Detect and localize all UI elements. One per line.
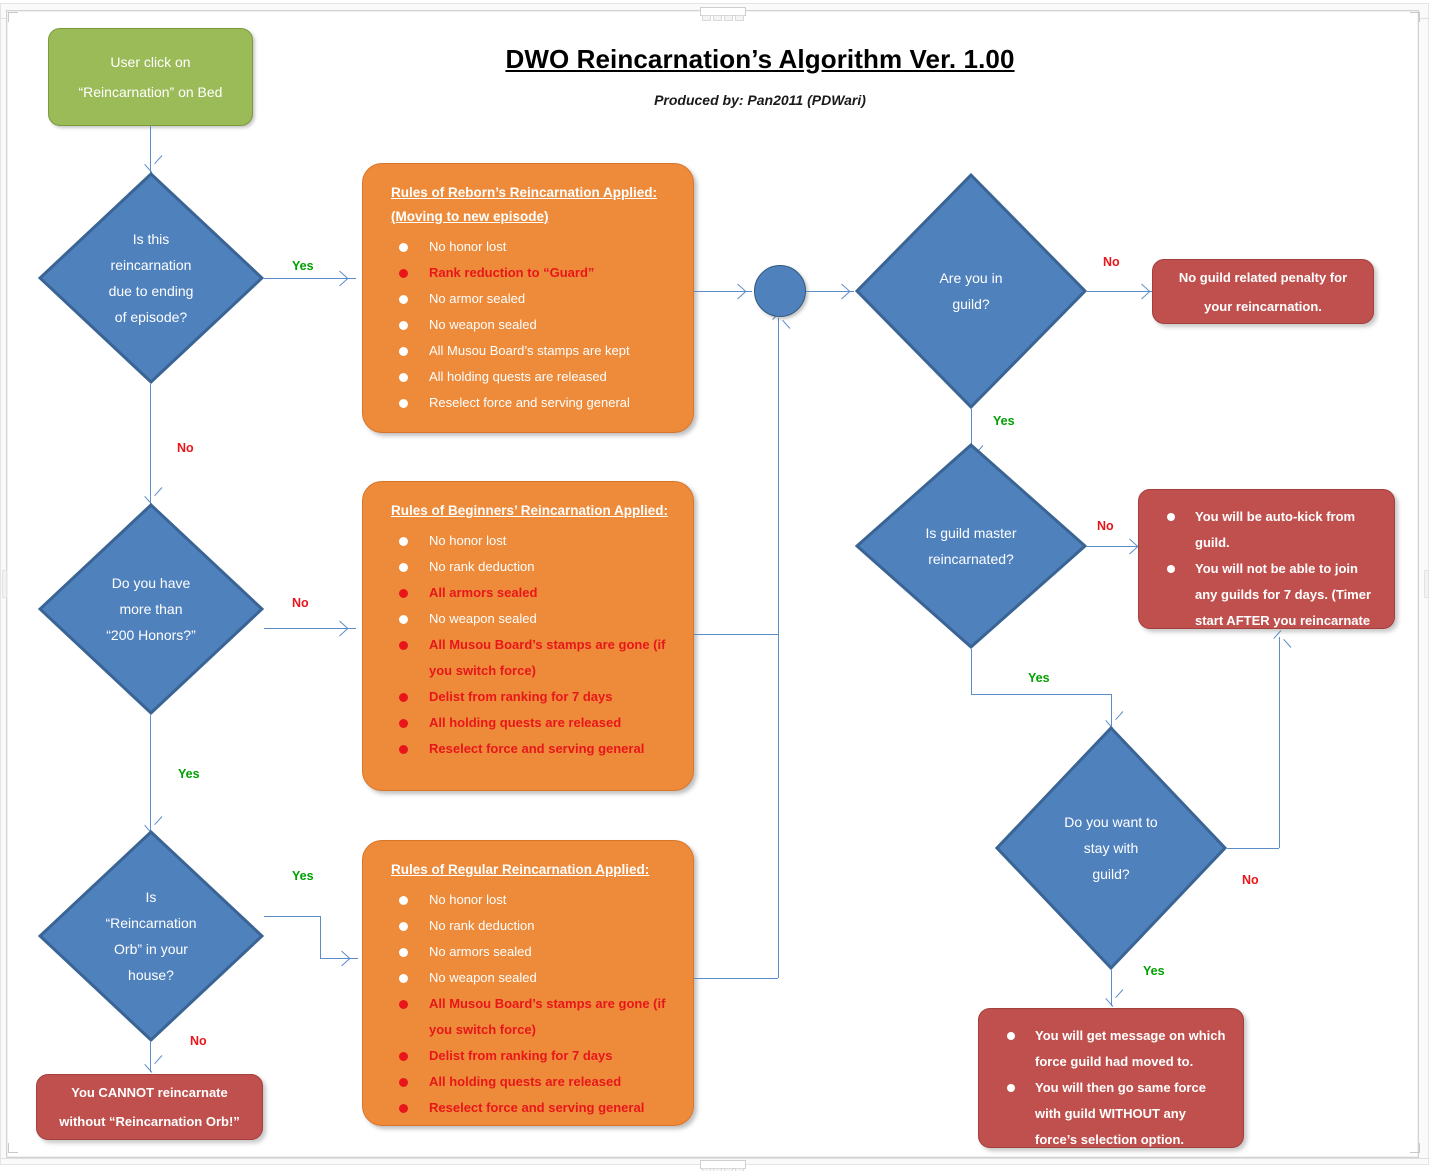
label-stay-yes: Yes xyxy=(1143,964,1165,978)
rule-item: Delist from ranking for 7 days xyxy=(377,684,679,710)
bullet-icon xyxy=(399,347,408,356)
connector-honors-yes xyxy=(150,715,151,833)
bullet-icon xyxy=(399,922,408,931)
outcome-cannot-reincarnate-line2: without “Reincarnation Orb!” xyxy=(59,1107,240,1136)
rule-item: No weapon sealed xyxy=(377,965,679,991)
label-guild-master-yes: Yes xyxy=(1028,671,1050,685)
corner-mark-top-right xyxy=(1410,12,1420,22)
flowchart-page: DWO Reincarnation’s Algorithm Ver. 1.00 … xyxy=(0,0,1429,1171)
connector-guild-master-no xyxy=(1087,546,1142,547)
outcome-stay-with-guild: You will get message on which force guil… xyxy=(978,1008,1244,1148)
rule-item: No armor sealed xyxy=(377,286,679,312)
label-episode-no: No xyxy=(177,441,194,455)
decision-episode[interactable]: Is this reincarnation due to ending of e… xyxy=(38,172,264,384)
connector-beginners-to-merge-v xyxy=(778,318,779,634)
rule-item: All armors sealed xyxy=(377,580,679,606)
decision-stay-with-guild-text: Do you want to stay with guild? xyxy=(1027,809,1194,887)
rules-regular-box: Rules of Regular Reincarnation Applied: … xyxy=(362,840,694,1126)
decision-guild-master-text: Is guild master reincarnated? xyxy=(869,520,1073,572)
bullet-icon xyxy=(399,589,408,598)
connector-orb-yes-h1 xyxy=(264,916,320,917)
connector-orb-no xyxy=(150,1042,151,1072)
rule-item: Reselect force and serving general xyxy=(377,1095,679,1121)
connector-regular-to-merge-v xyxy=(778,634,779,978)
bullet-icon xyxy=(399,896,408,905)
rules-reborn-list: No honor lostRank reduction to “Guard”No… xyxy=(377,234,679,416)
decision-orb[interactable]: Is “Reincarnation Orb” in your house? xyxy=(38,830,264,1042)
bullet-icon xyxy=(1167,513,1175,521)
rule-item: Delist from ranking for 7 days xyxy=(377,1043,679,1069)
corner-mark-bottom-left xyxy=(8,1143,18,1153)
start-node-line2: “Reincarnation” on Bed xyxy=(79,77,223,107)
side-mark-right xyxy=(1424,570,1429,598)
bullet-icon xyxy=(1007,1084,1015,1092)
decision-episode-text: Is this reincarnation due to ending of e… xyxy=(70,226,233,330)
outcome-item: You will then go same force with guild W… xyxy=(987,1075,1229,1153)
label-guild-master-no: No xyxy=(1097,519,1114,533)
merge-connector-circle xyxy=(754,265,806,317)
outcome-item: You will not be able to join any guilds … xyxy=(1147,556,1380,660)
rule-item: Reselect force and serving general xyxy=(377,736,679,762)
connector-in-guild-no xyxy=(1087,291,1155,292)
bullet-icon xyxy=(399,321,408,330)
page-tab-top xyxy=(700,7,746,16)
label-in-guild-yes: Yes xyxy=(993,414,1015,428)
rules-beginners-box: Rules of Beginners’ Reincarnation Applie… xyxy=(362,481,694,791)
rule-item: Rank reduction to “Guard” xyxy=(377,260,679,286)
rule-item: No honor lost xyxy=(377,887,679,913)
rule-item: No weapon sealed xyxy=(377,312,679,338)
rules-regular-title: Rules of Regular Reincarnation Applied: xyxy=(391,857,679,883)
connector-episode-no xyxy=(150,384,151,504)
start-node-line1: User click on xyxy=(110,47,190,77)
label-in-guild-no: No xyxy=(1103,255,1120,269)
outcome-cannot-reincarnate-line1: You CANNOT reincarnate xyxy=(71,1078,228,1107)
connector-stay-no-v xyxy=(1279,637,1280,848)
outcome-no-guild-penalty: No guild related penalty for your reinca… xyxy=(1152,259,1374,324)
bullet-icon xyxy=(399,693,408,702)
decision-stay-with-guild[interactable]: Do you want to stay with guild? xyxy=(995,726,1227,970)
rule-item: No honor lost xyxy=(377,528,679,554)
connector-guild-master-yes-v2 xyxy=(1111,694,1112,728)
rule-item: All Musou Board’s stamps are kept xyxy=(377,338,679,364)
bullet-icon xyxy=(399,745,408,754)
bullet-icon xyxy=(399,974,408,983)
bullet-icon xyxy=(399,1078,408,1087)
rule-item: No weapon sealed xyxy=(377,606,679,632)
rule-item: All holding quests are released xyxy=(377,1069,679,1095)
bullet-icon xyxy=(399,563,408,572)
rule-item: No armors sealed xyxy=(377,939,679,965)
rules-beginners-title: Rules of Beginners’ Reincarnation Applie… xyxy=(391,498,679,524)
rules-beginners-list: No honor lostNo rank deductionAll armors… xyxy=(377,528,679,762)
connector-start-to-episode xyxy=(150,126,151,174)
bullet-icon xyxy=(399,399,408,408)
outcome-item: You will get message on which force guil… xyxy=(987,1023,1229,1075)
outcome-stay-with-guild-list: You will get message on which force guil… xyxy=(979,1009,1243,1165)
page-tab-bottom xyxy=(700,1160,746,1169)
outcome-no-guild-penalty-line2: your reincarnation. xyxy=(1204,292,1322,321)
rule-item: No honor lost xyxy=(377,234,679,260)
rules-reborn-title-line1: Rules of Reborn’s Reincarnation Applied: xyxy=(391,180,679,206)
connector-stay-yes xyxy=(1111,970,1112,1006)
rules-reborn-box: Rules of Reborn’s Reincarnation Applied:… xyxy=(362,163,694,433)
bullet-icon xyxy=(399,269,408,278)
label-orb-yes: Yes xyxy=(292,869,314,883)
label-honors-yes: Yes xyxy=(178,767,200,781)
corner-mark-bottom-right xyxy=(1410,1143,1420,1153)
outcome-item: You will be auto-kick from guild. xyxy=(1147,504,1380,556)
bullet-icon xyxy=(399,1052,408,1061)
decision-honors[interactable]: Do you have more than “200 Honors?” xyxy=(38,503,264,715)
connector-guild-master-yes-h xyxy=(971,694,1111,695)
decision-guild-master[interactable]: Is guild master reincarnated? xyxy=(855,443,1087,649)
bullet-icon xyxy=(399,615,408,624)
connector-orb-yes-h2 xyxy=(320,958,358,959)
start-node-user-click[interactable]: User click on “Reincarnation” on Bed xyxy=(48,28,253,126)
connector-stay-no-h xyxy=(1227,848,1279,849)
bullet-icon xyxy=(399,948,408,957)
corner-mark-top-left xyxy=(8,12,18,22)
rule-item: All holding quests are released xyxy=(377,710,679,736)
page-title: DWO Reincarnation’s Algorithm Ver. 1.00 xyxy=(430,44,1090,75)
connector-beginners-to-merge-h xyxy=(694,634,778,635)
rule-item: All holding quests are released xyxy=(377,364,679,390)
outcome-no-guild-penalty-line1: No guild related penalty for xyxy=(1179,263,1347,292)
connector-orb-yes-v xyxy=(320,916,321,958)
bullet-icon xyxy=(399,373,408,382)
page-subtitle: Produced by: Pan2011 (PDWari) xyxy=(430,92,1090,108)
bullet-icon xyxy=(399,1104,408,1113)
connector-guild-master-yes-v1 xyxy=(971,649,972,694)
outcome-auto-kick-list: You will be auto-kick from guild.You wil… xyxy=(1139,490,1394,672)
rule-item: No rank deduction xyxy=(377,554,679,580)
bullet-icon xyxy=(399,295,408,304)
outcome-cannot-reincarnate: You CANNOT reincarnate without “Reincarn… xyxy=(36,1074,263,1140)
rules-regular-list: No honor lostNo rank deductionNo armors … xyxy=(377,887,679,1121)
bullet-icon xyxy=(1007,1032,1015,1040)
label-honors-no: No xyxy=(292,596,309,610)
connector-regular-to-merge-h xyxy=(694,978,778,979)
rule-item: No rank deduction xyxy=(377,913,679,939)
bullet-icon xyxy=(399,641,408,650)
bullet-icon xyxy=(399,537,408,546)
decision-orb-text: Is “Reincarnation Orb” in your house? xyxy=(70,884,233,988)
bullet-icon xyxy=(399,1000,408,1009)
bullet-icon xyxy=(1167,565,1175,573)
bullet-icon xyxy=(399,719,408,728)
rule-item: All Musou Board’s stamps are gone (if yo… xyxy=(377,632,679,684)
bullet-icon xyxy=(399,243,408,252)
connector-episode-yes xyxy=(264,278,356,279)
label-stay-no: No xyxy=(1242,873,1259,887)
side-mark-left xyxy=(2,570,7,598)
decision-in-guild-text: Are you in guild? xyxy=(887,265,1054,317)
decision-honors-text: Do you have more than “200 Honors?” xyxy=(70,570,233,648)
connector-honors-no xyxy=(264,628,356,629)
outcome-auto-kick: You will be auto-kick from guild.You wil… xyxy=(1138,489,1395,629)
decision-in-guild[interactable]: Are you in guild? xyxy=(855,173,1087,409)
rule-item: Reselect force and serving general xyxy=(377,390,679,416)
rules-reborn-title-line2: (Moving to new episode) xyxy=(391,204,679,230)
label-orb-no: No xyxy=(190,1034,207,1048)
rule-item: All Musou Board’s stamps are gone (if yo… xyxy=(377,991,679,1043)
label-episode-yes: Yes xyxy=(292,259,314,273)
